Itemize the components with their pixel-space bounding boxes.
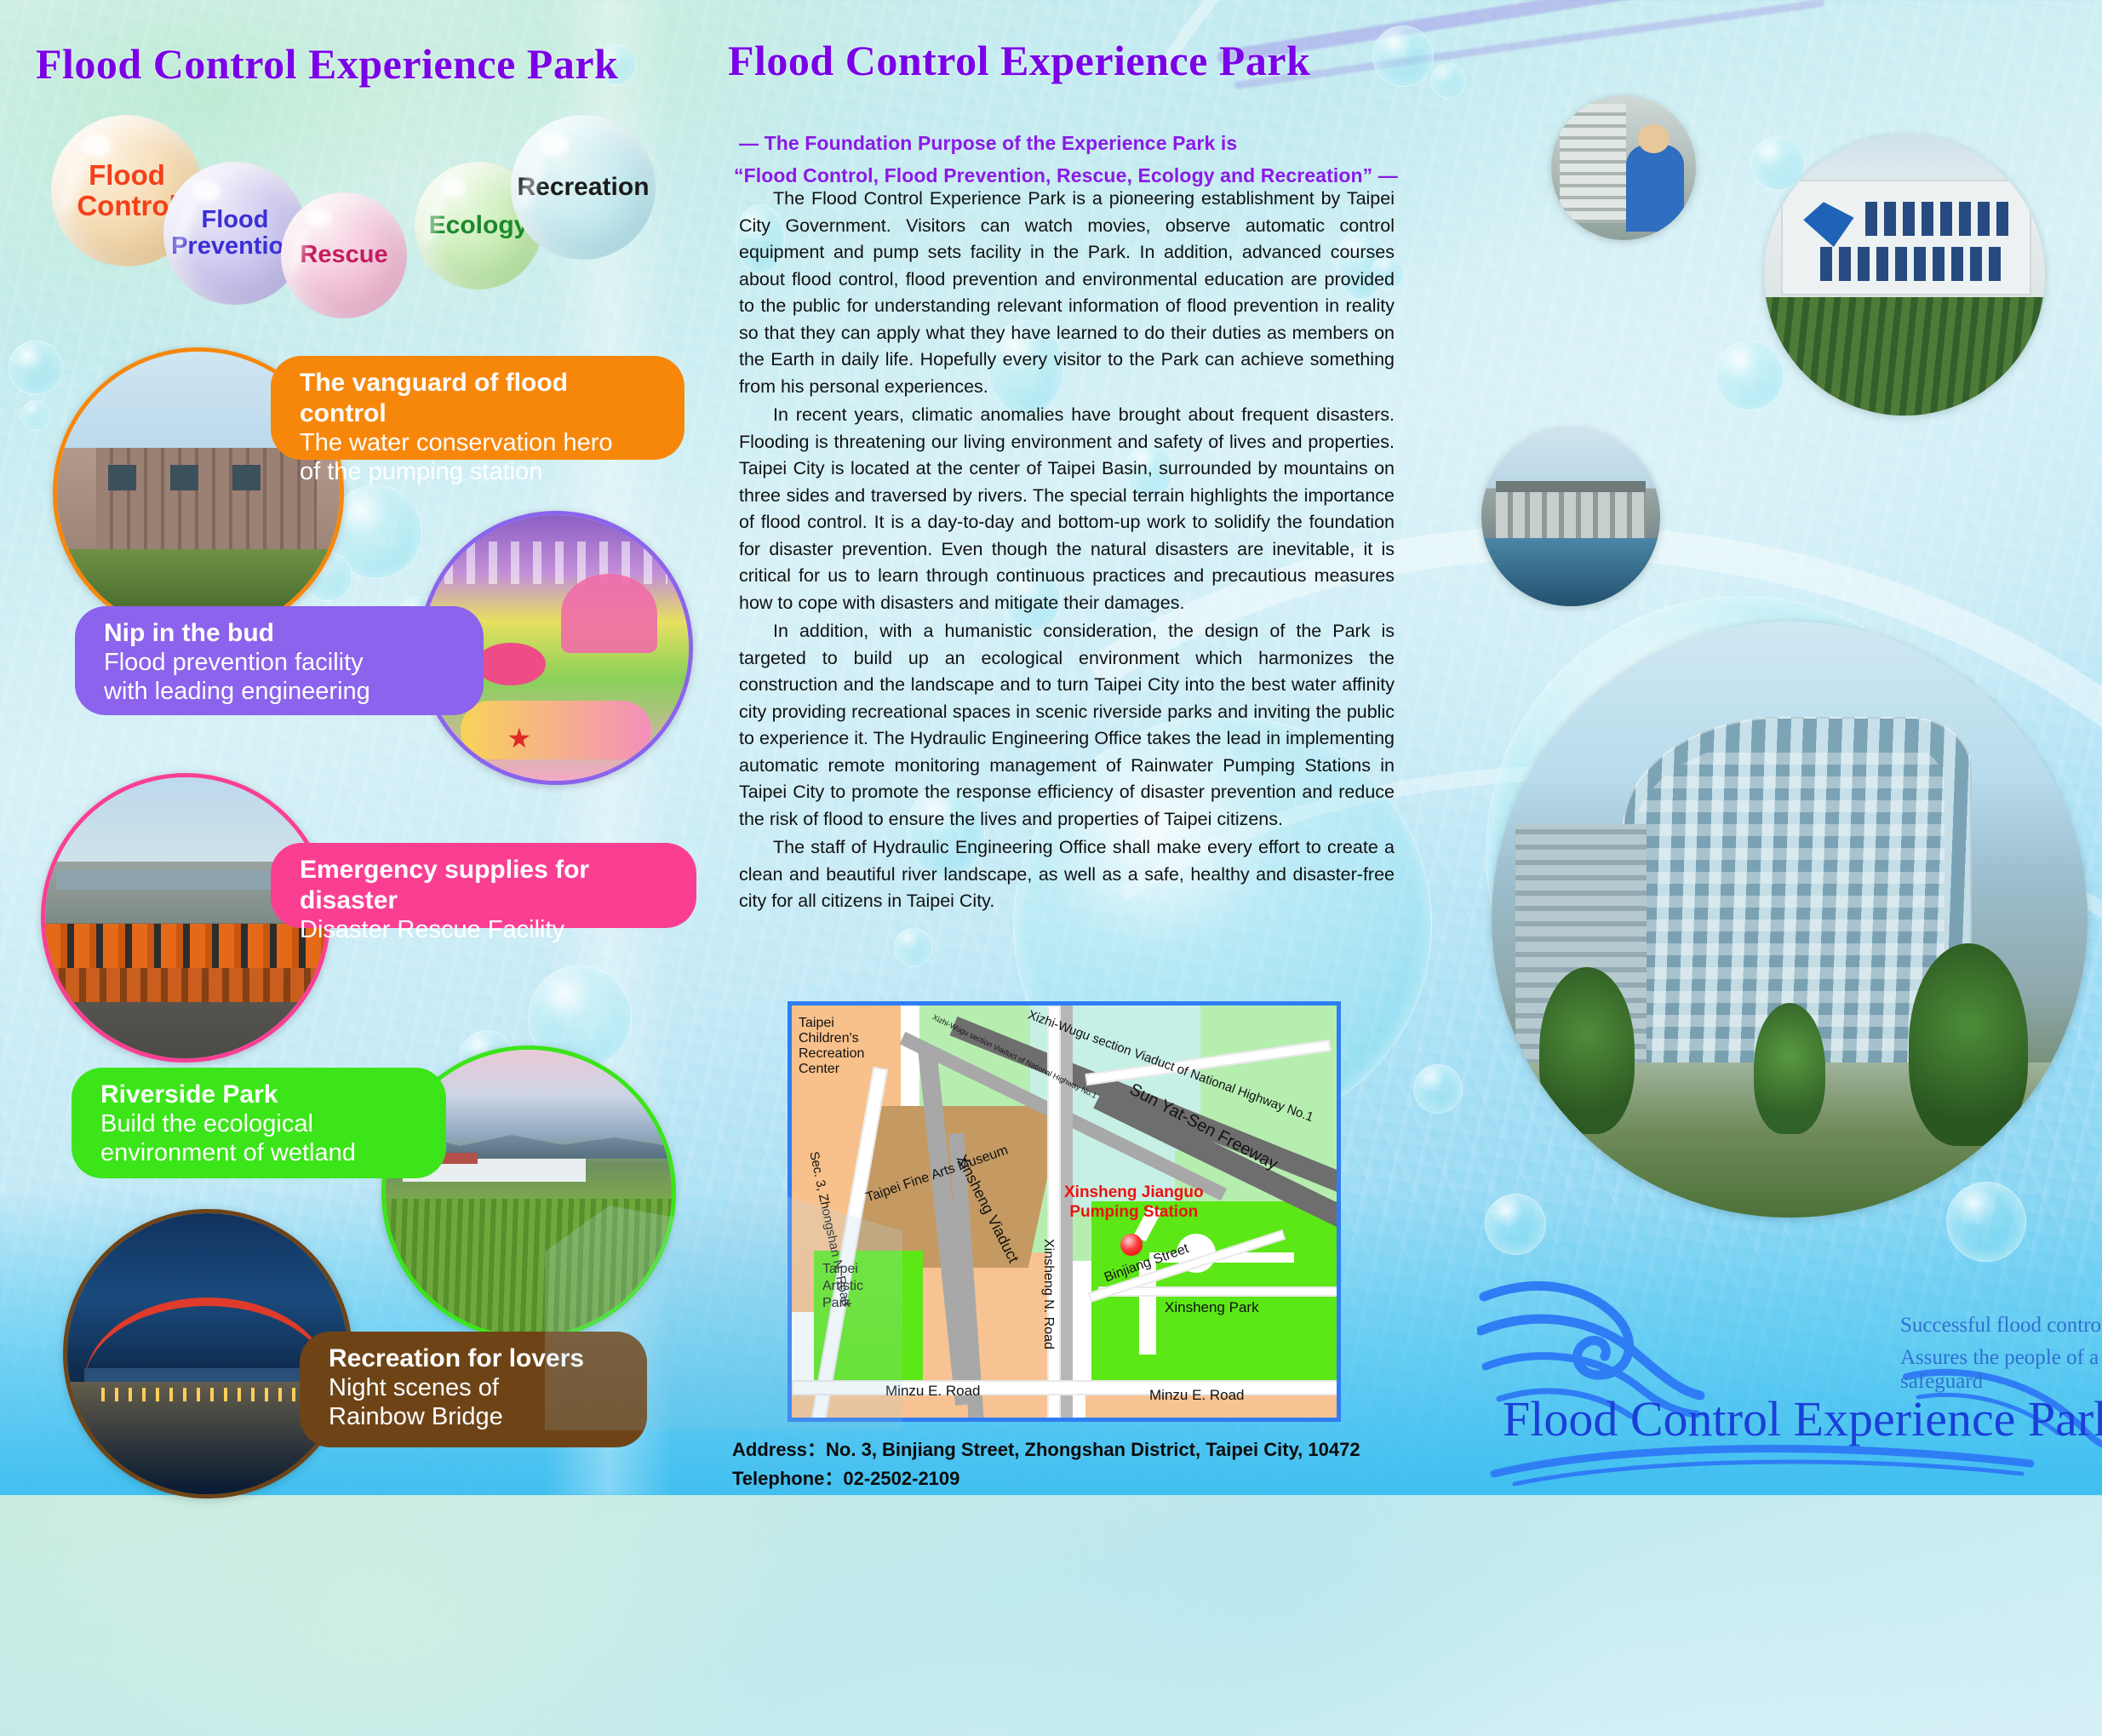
concept-bubble-label: Rescue — [300, 242, 387, 268]
banner-subtitle-2: with leading engineering — [104, 678, 458, 707]
banner-title: Nip in the bud — [104, 618, 458, 649]
paragraph: The Flood Control Experience Park is a p… — [739, 186, 1395, 400]
photo-control-panel-operator — [1551, 95, 1696, 240]
banner-subtitle-2: environment of wetland — [100, 1139, 421, 1168]
banner-title: The vanguard of flood control — [300, 368, 659, 429]
banner-subtitle-1: The water conservation hero — [300, 429, 659, 458]
concept-bubble-label: Recreation — [517, 174, 649, 201]
contact-info: Address：No. 3, Binjiang Street, Zhongsha… — [732, 1435, 1360, 1493]
banner-riverside-park: Riverside Park Build the ecological envi… — [72, 1068, 446, 1178]
paragraph: In recent years, climatic anomalies have… — [739, 402, 1395, 616]
banner-title: Recreation for lovers — [329, 1344, 621, 1374]
map-label-xinsheng-park: Xinsheng Park — [1165, 1299, 1259, 1316]
paragraph: In addition, with a humanistic considera… — [739, 618, 1395, 833]
telephone-line: Telephone：02-2502-2109 — [732, 1464, 1360, 1493]
map-label-pumping-station: Xinsheng Jianguo Pumping Station — [1064, 1183, 1204, 1222]
logo-tagline-2: Assures the people of a safeguard — [1900, 1346, 2102, 1394]
purpose-subtitle-line2: “Flood Control, Flood Prevention, Rescue… — [734, 164, 1398, 187]
banner-emergency-supplies: Emergency supplies for disaster Disaster… — [271, 843, 696, 928]
banner-vanguard: The vanguard of flood control The water … — [271, 356, 684, 460]
map-label-minzu-road-right: Minzu E. Road — [1149, 1387, 1245, 1404]
logo-tagline-1: Successful flood control — [1900, 1314, 2102, 1338]
banner-subtitle-1: Night scenes of — [329, 1374, 621, 1403]
banner-subtitle-1: Build the ecological — [100, 1110, 421, 1139]
map-marker-pumping-station — [1120, 1234, 1143, 1256]
banner-title: Riverside Park — [100, 1080, 421, 1110]
paragraph: The staff of Hydraulic Engineering Offic… — [739, 834, 1395, 915]
banner-recreation-for-lovers: Recreation for lovers Night scenes of Ra… — [300, 1332, 647, 1447]
map-label-artistic-park: Taipei Artistic Park — [822, 1261, 863, 1312]
banner-subtitle-1: Disaster Rescue Facility — [300, 916, 671, 945]
page-title-left: Flood Control Experience Park — [36, 39, 618, 89]
concept-bubble-recreation: Recreation — [511, 115, 656, 260]
banner-nip-in-the-bud: Nip in the bud Flood prevention facility… — [75, 606, 484, 715]
banner-title: Emergency supplies for disaster — [300, 855, 671, 916]
page-title-center: Flood Control Experience Park — [728, 36, 1310, 85]
banner-subtitle-2: of the pumping station — [300, 458, 659, 487]
photo-floodgate — [1481, 427, 1660, 606]
concept-bubble-rescue: Rescue — [281, 192, 407, 318]
map-label-xinsheng-n-road: Xinsheng N. Road — [1040, 1239, 1056, 1349]
logo-park-name: Flood Control Experience Park — [1503, 1390, 2102, 1447]
brand-logo-block: Successful flood control Assures the peo… — [1477, 1264, 2102, 1477]
banner-subtitle-1: Flood prevention facility — [104, 649, 458, 678]
photo-experience-park-building — [1492, 622, 2088, 1217]
introduction-body: The Flood Control Experience Park is a p… — [739, 186, 1395, 917]
map-label-minzu-road-left: Minzu E. Road — [885, 1383, 981, 1400]
photo-office-signboard — [1764, 135, 2045, 415]
address-line: Address：No. 3, Binjiang Street, Zhongsha… — [732, 1435, 1360, 1464]
purpose-subtitle-line1: — The Foundation Purpose of the Experien… — [739, 132, 1237, 155]
concept-bubble-label: Ecology — [429, 212, 529, 239]
map-label-childrens-center: Taipei Children's Recreation Center — [799, 1016, 864, 1077]
location-map[interactable]: Taipei Children's Recreation Center Sec.… — [788, 1001, 1341, 1422]
banner-subtitle-2: Rainbow Bridge — [329, 1403, 621, 1432]
